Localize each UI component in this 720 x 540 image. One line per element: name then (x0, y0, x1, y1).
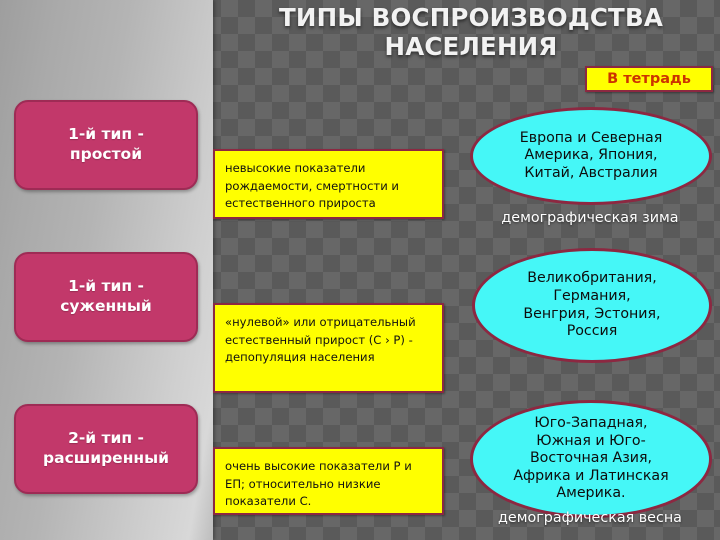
sidebar-item-type-1-simple[interactable]: 1-й тип - простой (14, 100, 198, 190)
region-ellipse-3: Юго-Западная, Южная и Юго- Восточная Ази… (470, 400, 712, 518)
slide-canvas: ТИПЫ ВОСПРОИЗВОДСТВА НАСЕЛЕНИЯ В тетрадь… (0, 0, 720, 540)
region-ellipse-label: Великобритания, Германия, Венгрия, Эстон… (523, 270, 660, 340)
region-ellipse-label: Европа и Северная Америка, Япония, Китай… (520, 130, 662, 183)
region-ellipse-1: Европа и Северная Америка, Япония, Китай… (470, 107, 712, 205)
page-title: ТИПЫ ВОСПРОИЗВОДСТВА НАСЕЛЕНИЯ (236, 4, 706, 61)
sidebar-item-label: 1-й тип - простой (68, 125, 144, 165)
note-box-indicators-3: очень высокие показатели Р и ЕП; относит… (213, 447, 444, 515)
sidebar-item-label: 1-й тип - суженный (60, 277, 152, 317)
region-ellipse-label: Юго-Западная, Южная и Юго- Восточная Ази… (513, 415, 668, 503)
sidebar-item-type-1-narrowed[interactable]: 1-й тип - суженный (14, 252, 198, 342)
sidebar-item-type-2-expanded[interactable]: 2-й тип - расширенный (14, 404, 198, 494)
region-ellipse-2: Великобритания, Германия, Венгрия, Эстон… (472, 248, 712, 363)
caption-demographic-winter: демографическая зима (460, 211, 720, 227)
sidebar-item-label: 2-й тип - расширенный (43, 429, 169, 469)
note-box-indicators-2: «нулевой» или отрицательный естественный… (213, 303, 444, 393)
note-box-indicators-1: невысокие показатели рождаемости, смертн… (213, 149, 444, 219)
notebook-badge[interactable]: В тетрадь (585, 66, 713, 92)
caption-demographic-spring: демографическая весна (460, 511, 720, 527)
